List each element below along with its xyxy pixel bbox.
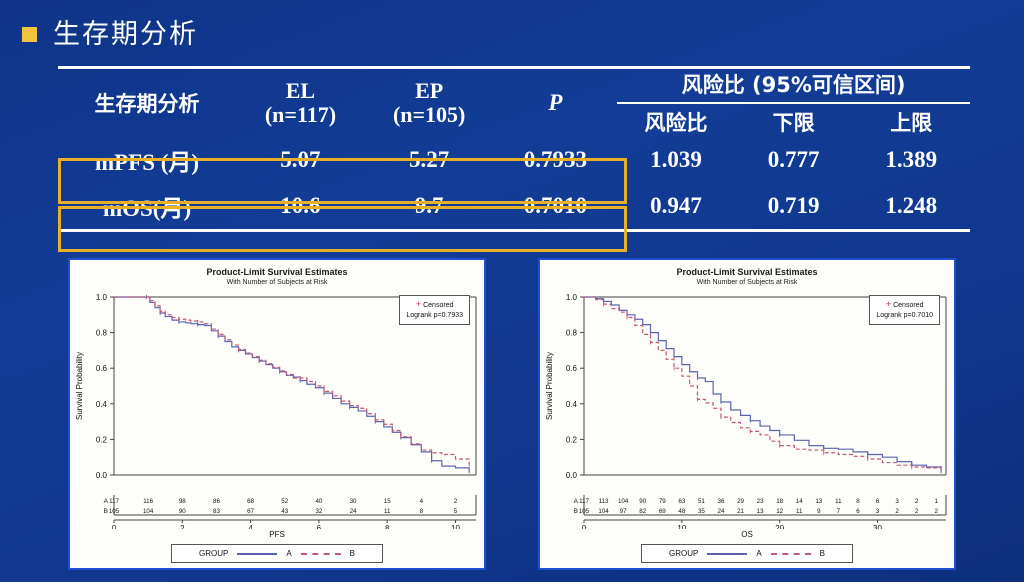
svg-text:B: B [574,508,578,515]
svg-text:105: 105 [579,508,590,515]
slide-root: 生存期分析 生存期分析 EL (n=117) EP (n=105) P 风险比 … [0,0,1024,582]
svg-text:0.8: 0.8 [566,329,578,338]
chart-pfs-title: Product-Limit Survival Estimates [70,267,484,277]
svg-text:4: 4 [248,524,253,529]
svg-text:0.4: 0.4 [96,400,108,409]
svg-text:51: 51 [698,498,705,505]
chart-os-legend-b: B [820,549,825,558]
chart-os-annotation-box: + Censored Logrank p=0.7010 [869,295,940,325]
censored-text: Censored [423,302,453,309]
svg-text:8: 8 [420,508,424,515]
row-mos-upper: 1.248 [852,183,970,229]
row-mpfs-p: 0.7933 [494,137,618,183]
svg-text:98: 98 [179,498,186,505]
svg-text:13: 13 [757,508,764,515]
header-p: P [494,69,618,137]
svg-text:86: 86 [213,498,220,505]
row-mpfs-ep: 5.27 [365,137,494,183]
svg-text:1.0: 1.0 [566,293,578,302]
svg-text:79: 79 [659,498,666,505]
svg-text:2: 2 [454,498,458,505]
svg-text:8: 8 [385,524,390,529]
header-el-name: EL [236,79,365,103]
header-ep-name: EP [365,79,494,103]
svg-text:8: 8 [856,498,860,505]
svg-text:117: 117 [579,498,589,505]
chart-pfs-legend-a: A [286,549,291,558]
survival-stats-table: 生存期分析 EL (n=117) EP (n=105) P 风险比 (95%可信… [58,69,970,229]
svg-text:2: 2 [895,508,899,515]
svg-text:20: 20 [775,524,784,529]
legend-line-a-icon [707,553,747,555]
chart-pfs-xlabel: PFS [70,530,484,539]
chart-pfs-group-legend: GROUP A B [171,544,383,563]
svg-text:A: A [574,498,579,505]
svg-text:4: 4 [420,498,424,505]
svg-text:36: 36 [718,498,725,505]
row-mpfs-upper: 1.389 [852,137,970,183]
row-mos-el: 10.6 [236,183,365,229]
censored-dot-icon: + [416,299,421,309]
slide-title-row: 生存期分析 [22,12,198,51]
svg-text:0.6: 0.6 [96,364,108,373]
legend-line-a-icon [237,553,277,555]
chart-os-legend-title: GROUP [669,549,698,558]
chart-pfs-subtitle: With Number of Subjects at Risk [70,279,484,286]
svg-text:0.6: 0.6 [566,364,578,373]
svg-text:104: 104 [143,508,154,515]
svg-text:105: 105 [109,508,120,515]
svg-text:0.8: 0.8 [96,329,108,338]
svg-text:97: 97 [620,508,627,515]
row-mos-hr: 0.947 [617,183,735,229]
chart-pfs-risk-table: A1171169886685240301542B1051049083674332… [70,495,484,529]
chart-pfs-legend-title: GROUP [199,549,228,558]
svg-text:2: 2 [180,524,185,529]
svg-text:104: 104 [598,508,609,515]
svg-text:0.2: 0.2 [566,435,578,444]
stats-table-container: 生存期分析 EL (n=117) EP (n=105) P 风险比 (95%可信… [58,66,970,232]
bottom-cutoff-strip [0,568,1024,582]
svg-text:0: 0 [582,524,587,529]
svg-text:117: 117 [109,498,119,505]
svg-text:18: 18 [776,498,783,505]
row-mpfs-el: 5.07 [236,137,365,183]
page-title: 生存期分析 [53,12,198,51]
header-lower: 下限 [735,103,853,137]
row-mpfs-label: mPFS (月) [58,137,236,183]
svg-text:12: 12 [776,508,783,515]
chart-os-legend-a: A [756,549,761,558]
svg-text:30: 30 [873,524,882,529]
header-ep-n: (n=105) [365,103,494,127]
svg-text:10: 10 [451,524,460,529]
svg-text:69: 69 [659,508,666,515]
svg-text:29: 29 [737,498,744,505]
gold-square-bullet-icon [22,27,37,42]
svg-text:9: 9 [817,508,821,515]
svg-text:3: 3 [895,498,899,505]
svg-text:5: 5 [454,508,458,515]
svg-text:32: 32 [315,508,322,515]
header-el-n: (n=117) [236,103,365,127]
chart-os-risk-table: A117113104907963513629231814131186321B10… [540,495,954,529]
svg-text:48: 48 [678,508,685,515]
chart-os-logrank-label: Logrank p=0.7010 [876,311,933,321]
header-hr: 风险比 [617,103,735,137]
row-mos-p: 0.7010 [494,183,618,229]
svg-text:13: 13 [815,498,822,505]
table-bottom-rule [58,229,970,232]
svg-text:3: 3 [876,508,880,515]
chart-os-xlabel: OS [540,530,954,539]
svg-text:B: B [104,508,108,515]
row-mos-lower: 0.719 [735,183,853,229]
row-mpfs-hr: 1.039 [617,137,735,183]
svg-text:40: 40 [315,498,322,505]
svg-text:83: 83 [213,508,220,515]
svg-text:1.0: 1.0 [96,293,108,302]
svg-text:0.4: 0.4 [566,400,578,409]
svg-text:52: 52 [281,498,288,505]
svg-text:24: 24 [718,508,725,515]
svg-text:2: 2 [934,508,938,515]
svg-text:104: 104 [618,498,629,505]
header-ep: EP (n=105) [365,69,494,137]
chart-pfs-risk-area: A1171169886685240301542B1051049083674332… [70,495,484,529]
header-row-label: 生存期分析 [58,69,236,137]
table-header-row-1: 生存期分析 EL (n=117) EP (n=105) P 风险比 (95%可信… [58,69,970,103]
svg-text:2: 2 [915,498,919,505]
svg-text:11: 11 [384,508,391,515]
header-upper: 上限 [852,103,970,137]
chart-pfs-logrank-label: Logrank p=0.7933 [406,311,463,321]
censored-text: Censored [893,302,923,309]
table-row: mPFS (月) 5.07 5.27 0.7933 1.039 0.777 1.… [58,137,970,183]
svg-text:30: 30 [350,498,357,505]
svg-text:90: 90 [639,498,646,505]
legend-line-b-icon [301,553,341,555]
svg-text:113: 113 [599,498,609,505]
chart-pfs-censored-label: + Censored [406,298,463,311]
svg-text:2: 2 [915,508,919,515]
svg-text:63: 63 [678,498,685,505]
svg-text:43: 43 [281,508,288,515]
svg-text:0.0: 0.0 [566,471,578,480]
svg-text:35: 35 [698,508,705,515]
chart-os-title: Product-Limit Survival Estimates [540,267,954,277]
svg-text:24: 24 [350,508,357,515]
svg-text:23: 23 [757,498,764,505]
svg-text:7: 7 [837,508,841,515]
header-hazard-ratio-group: 风险比 (95%可信区间) [617,69,970,103]
chart-os-risk-area: A117113104907963513629231814131186321B10… [540,495,954,529]
svg-text:21: 21 [737,508,744,515]
svg-text:0.0: 0.0 [96,471,108,480]
chart-os-subtitle: With Number of Subjects at Risk [540,279,954,286]
svg-text:Survival Probability: Survival Probability [545,352,554,420]
row-mos-label: mOS(月) [58,183,236,229]
header-el: EL (n=117) [236,69,365,137]
legend-line-b-icon [771,553,811,555]
chart-os-censored-label: + Censored [876,298,933,311]
chart-pfs-annotation-box: + Censored Logrank p=0.7933 [399,295,470,325]
row-mpfs-lower: 0.777 [735,137,853,183]
svg-text:1: 1 [934,498,938,505]
svg-text:6: 6 [876,498,880,505]
svg-text:11: 11 [835,498,842,505]
chart-os-group-legend: GROUP A B [641,544,853,563]
chart-os-panel: Product-Limit Survival Estimates With Nu… [538,258,956,570]
chart-pfs-legend-b: B [350,549,355,558]
svg-text:68: 68 [247,498,254,505]
chart-pfs-plot-area: 0.00.20.40.60.81.0Survival Probability +… [70,289,484,495]
svg-text:0.2: 0.2 [96,435,108,444]
svg-text:6: 6 [856,508,860,515]
svg-text:90: 90 [179,508,186,515]
svg-text:0: 0 [112,524,117,529]
row-mos-ep: 9.7 [365,183,494,229]
svg-text:10: 10 [677,524,686,529]
svg-text:67: 67 [247,508,254,515]
svg-text:A: A [104,498,109,505]
svg-text:6: 6 [317,524,322,529]
svg-text:Survival Probability: Survival Probability [75,352,84,420]
table-row: mOS(月) 10.6 9.7 0.7010 0.947 0.719 1.248 [58,183,970,229]
svg-text:82: 82 [639,508,646,515]
chart-pfs-panel: Product-Limit Survival Estimates With Nu… [68,258,486,570]
censored-dot-icon: + [886,299,891,309]
svg-text:14: 14 [796,498,803,505]
svg-text:11: 11 [796,508,803,515]
chart-os-plot-area: 0.00.20.40.60.81.0Survival Probability +… [540,289,954,495]
svg-text:116: 116 [143,498,153,505]
svg-text:15: 15 [384,498,391,505]
